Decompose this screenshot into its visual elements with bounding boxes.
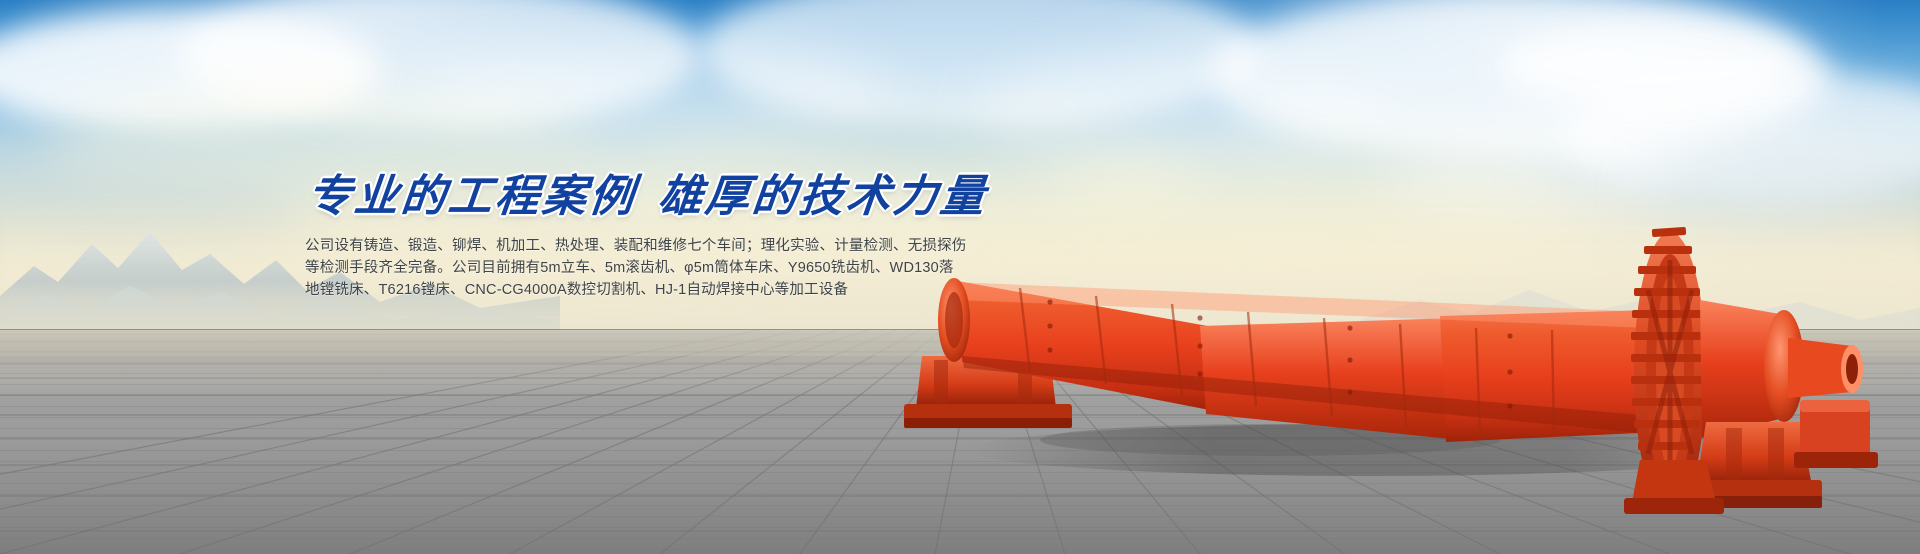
hero-banner: 专业的工程案例雄厚的技术力量 公司设有铸造、锻造、铆焊、机加工、热处理、装配和维…: [0, 0, 1920, 554]
description-line-1: 公司设有铸造、锻造、铆焊、机加工、热处理、装配和维修七个车间；理化实验、计量检测…: [305, 235, 1225, 257]
banner-description: 公司设有铸造、锻造、铆焊、机加工、热处理、装配和维修七个车间；理化实验、计量检测…: [305, 235, 1225, 301]
description-line-3: 地镗铣床、T6216镗床、CNC-CG4000A数控切割机、HJ-1自动焊接中心…: [305, 279, 1225, 301]
headline-part-1: 专业的工程案例: [305, 171, 639, 222]
cloud-shape: [1500, 20, 1800, 110]
machine-drive-unit: [1794, 400, 1878, 468]
description-line-2: 等检测手段齐全完备。公司目前拥有5m立车、5m滚齿机、φ5m筒体车床、Y9650…: [305, 257, 1225, 279]
headline-part-2: 雄厚的技术力量: [656, 171, 990, 222]
banner-text-block: 专业的工程案例雄厚的技术力量 公司设有铸造、锻造、铆焊、机加工、热处理、装配和维…: [305, 175, 1225, 301]
banner-headline: 专业的工程案例雄厚的技术力量: [305, 175, 1230, 219]
